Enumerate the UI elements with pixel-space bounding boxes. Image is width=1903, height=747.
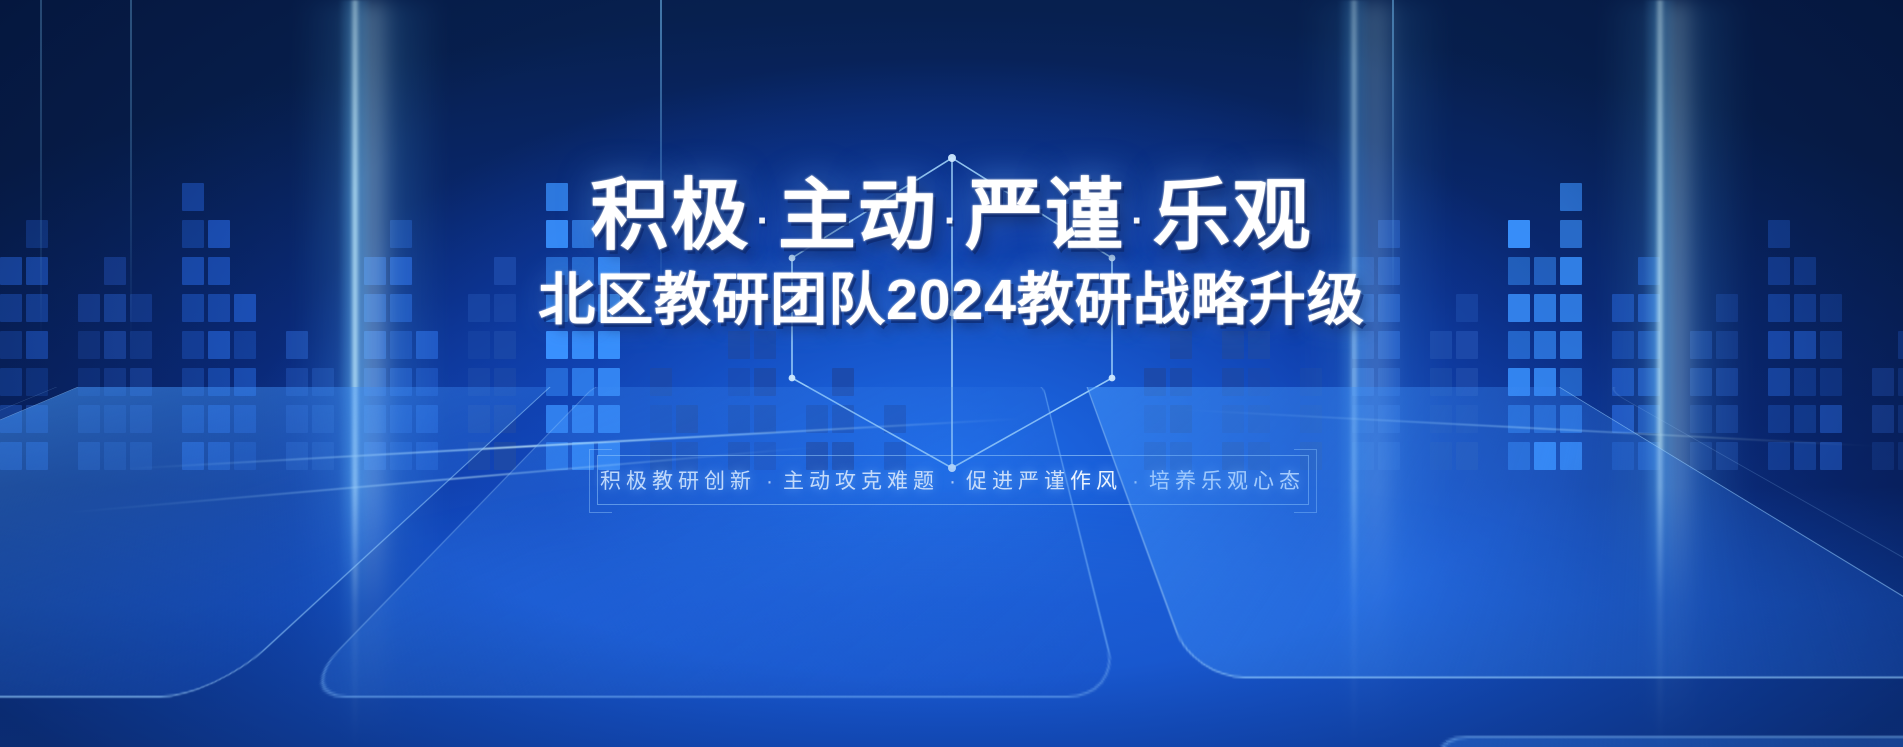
headline-part-4: 乐观 [1153, 171, 1313, 259]
headline-separator-3: · [1125, 199, 1152, 243]
skyline-pixel [1378, 331, 1400, 359]
hairline-4 [1392, 0, 1394, 300]
floor-fade [0, 487, 1903, 747]
skyline-pixel [1638, 331, 1660, 359]
skyline-pixel [1456, 331, 1478, 359]
skyline-pixel [728, 331, 750, 359]
skyline-pixel [364, 331, 386, 359]
skyline-pixel [754, 331, 776, 359]
skyline-pixel [494, 331, 516, 359]
tagline-item-4: 培养乐观心态 [1149, 470, 1305, 493]
skyline-pixel [1508, 331, 1530, 359]
tagline-bar: 积极教研创新·主动攻克难题·促进严谨作风·培养乐观心态 [597, 455, 1309, 505]
headline-part-1: 积极 [590, 171, 750, 259]
skyline-pixel [1898, 331, 1903, 359]
skyline-pixel [0, 331, 22, 359]
tagline-item-3: 促进严谨作风 [966, 470, 1122, 493]
skyline-pixel [208, 331, 230, 359]
skyline-pixel [1430, 331, 1452, 359]
skyline-pixel [572, 331, 594, 359]
banner-stage: 积极·主动·严谨·乐观 北区教研团队2024教研战略升级 积极教研创新·主动攻克… [0, 0, 1903, 747]
headline-separator-1: · [750, 199, 777, 243]
skyline-pixel [546, 331, 568, 359]
skyline-pixel [78, 331, 100, 359]
skyline-pixel [1716, 331, 1738, 359]
skyline-pixel [104, 331, 126, 359]
skyline-pixel [1170, 331, 1192, 359]
skyline-pixel [1690, 331, 1712, 359]
headline-separator-2: · [938, 199, 965, 243]
headline-part-3: 严谨 [965, 171, 1125, 259]
tagline: 积极教研创新·主动攻克难题·促进严谨作风·培养乐观心态 [600, 465, 1305, 495]
skyline-pixel [1352, 331, 1374, 359]
tagline-separator-1: · [756, 470, 783, 493]
skyline-pixel [1768, 331, 1790, 359]
tagline-item-1: 积极教研创新 [600, 470, 756, 493]
skyline-pixel [468, 331, 490, 359]
skyline-pixel [1612, 331, 1634, 359]
skyline-pixel [1560, 331, 1582, 359]
tagline-separator-3: · [1122, 470, 1149, 493]
headline: 积极·主动·严谨·乐观 [0, 176, 1903, 254]
tagline-separator-2: · [939, 470, 966, 493]
skyline-pixel [130, 331, 152, 359]
skyline-pixel [598, 331, 620, 359]
skyline-pixel [390, 331, 412, 359]
headline-part-2: 主动 [778, 171, 938, 259]
tagline-item-2: 主动攻克难题 [783, 470, 939, 493]
skyline-pixel [182, 331, 204, 359]
skyline-pixel [26, 331, 48, 359]
skyline-pixel [286, 331, 308, 359]
skyline-pixel [1794, 331, 1816, 359]
skyline-pixel [1248, 331, 1270, 359]
skyline-pixel [1222, 331, 1244, 359]
skyline-pixel [234, 331, 256, 359]
skyline-pixel [416, 331, 438, 359]
skyline-pixel [1534, 331, 1556, 359]
skyline-pixel [1820, 331, 1842, 359]
subheadline: 北区教研团队2024教研战略升级 [0, 272, 1903, 329]
